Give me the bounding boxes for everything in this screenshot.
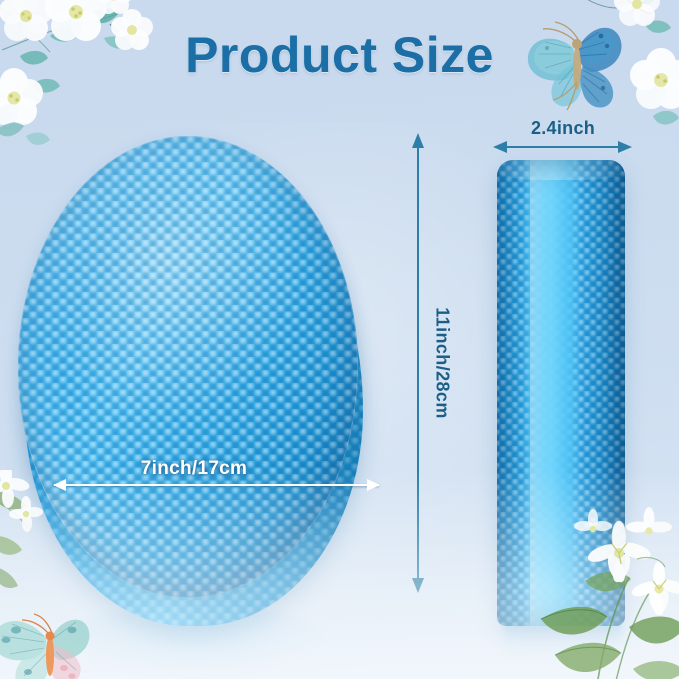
cushion-height-label: 11inch/28cm xyxy=(432,307,453,418)
roller-center-highlight xyxy=(523,160,581,626)
cushion-top-texture xyxy=(18,136,358,598)
cushion-width-label: 7inch/17cm xyxy=(18,458,370,480)
cushion-top-surface xyxy=(18,136,358,598)
roller-diameter-arrow xyxy=(506,146,619,148)
roller-diameter-label: 2.4inch xyxy=(497,118,629,139)
cushion-width-arrow xyxy=(54,484,379,486)
cushion-height-arrow xyxy=(417,146,419,580)
roller-reflection xyxy=(505,620,621,666)
roller-top-cap xyxy=(499,160,623,180)
foam-roller-product xyxy=(497,160,629,640)
product-size-infographic: Product Size 7inch/17cm 11inch/28cm 2.4i… xyxy=(0,0,679,679)
roller-body xyxy=(497,160,625,626)
page-title: Product Size xyxy=(0,26,679,84)
balance-cushion-product: 7inch/17cm xyxy=(18,136,370,646)
